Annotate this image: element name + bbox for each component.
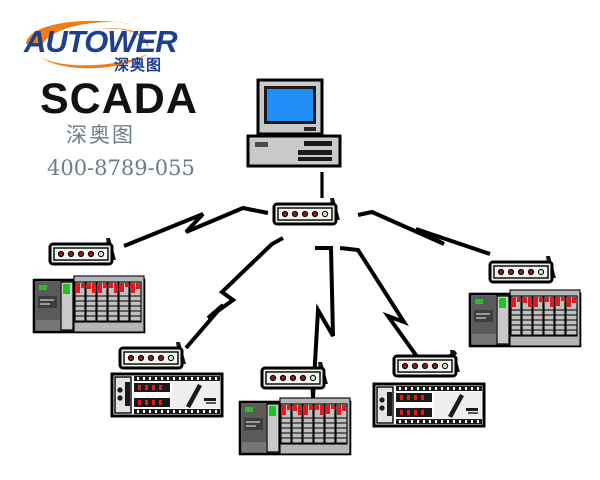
autower-logo: AUTOWER 深奥图	[18, 14, 188, 72]
branding-block: AUTOWER 深奥图	[18, 14, 228, 72]
terminal-strip-bottom	[134, 409, 220, 414]
status-led	[475, 299, 483, 304]
terminal-strip-top	[396, 386, 482, 391]
plc-rack-graphic	[32, 274, 148, 336]
plc-rack-graphic	[238, 396, 354, 458]
site-right-plc[interactable]	[468, 288, 576, 346]
plc-compact-graphic	[372, 380, 486, 430]
scada-host-pc[interactable]	[246, 78, 342, 170]
link-master-to-site-right	[358, 212, 490, 254]
site-bottom-center-plc[interactable]	[238, 396, 346, 454]
link-master-to-site-bottom-left	[186, 238, 283, 348]
svg-text:深奥图: 深奥图	[114, 56, 162, 74]
site-bottom-right-plc[interactable]	[372, 380, 480, 426]
logo-graphic: AUTOWER 深奥图	[18, 14, 196, 74]
subtitle-chinese: 深奥图	[66, 125, 135, 146]
pc-graphic	[246, 78, 346, 174]
link-master-to-site-left	[124, 208, 268, 246]
site-bottom-left-plc[interactable]	[110, 370, 218, 416]
page-title: SCADA	[40, 78, 198, 121]
site-bottom-center-router[interactable]	[260, 360, 338, 400]
terminal-strip-bottom	[396, 419, 482, 424]
master-router[interactable]	[272, 196, 350, 236]
router-graphic	[272, 196, 358, 242]
status-led	[245, 407, 253, 412]
pc-screen	[267, 89, 313, 121]
status-led	[39, 285, 47, 290]
terminal-strip-top	[134, 376, 220, 381]
svg-text:AUTOWER: AUTOWER	[23, 24, 178, 59]
site-left-plc[interactable]	[32, 274, 140, 332]
plc-compact-graphic	[110, 370, 224, 420]
site-left-router[interactable]	[48, 236, 126, 276]
plc-rack-graphic	[468, 288, 584, 350]
diagram-canvas: AUTOWER 深奥图 SCADA 深奥图 400-8789-055	[0, 0, 600, 480]
contact-phone: 400-8789-055	[47, 158, 195, 179]
